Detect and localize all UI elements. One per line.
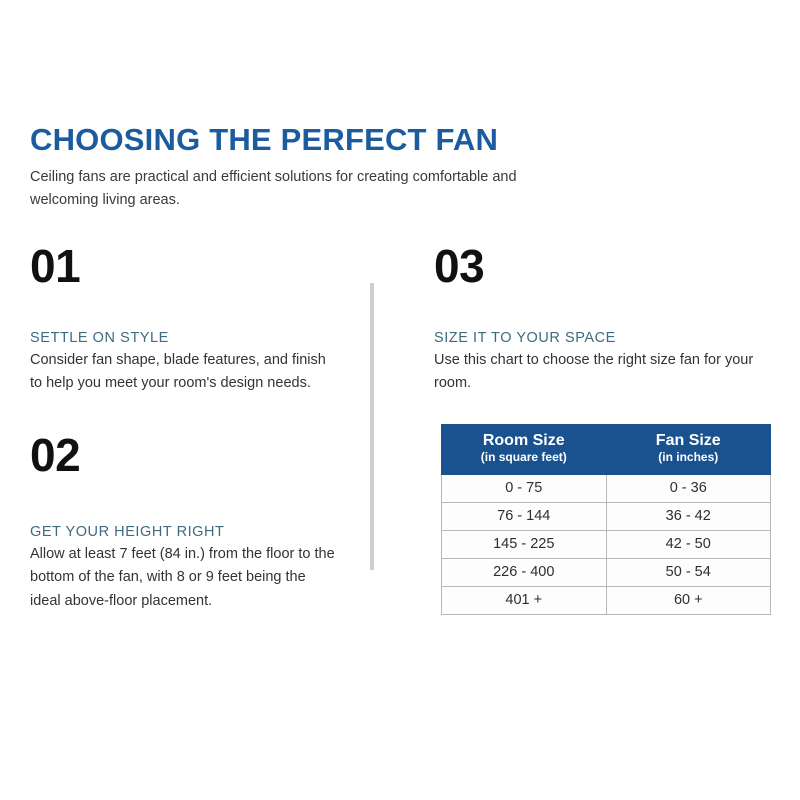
cell-room-size: 401 + [442, 586, 607, 614]
table-header-room-size: Room Size (in square feet) [442, 425, 607, 475]
header: CHOOSING THE PERFECT FAN Ceiling fans ar… [30, 124, 590, 213]
step-body-03: Use this chart to choose the right size … [434, 349, 774, 396]
table-row: 145 - 225 42 - 50 [442, 530, 771, 558]
table-row: 76 - 144 36 - 42 [442, 502, 771, 530]
step-block-02: 02 GET YOUR HEIGHT RIGHT Allow at least … [30, 432, 340, 613]
page-title: CHOOSING THE PERFECT FAN [30, 124, 590, 157]
header-room-size-main: Room Size [446, 432, 602, 450]
step-heading-03: SIZE IT TO YOUR SPACE [434, 330, 774, 346]
table-row: 226 - 400 50 - 54 [442, 558, 771, 586]
step-body-01: Consider fan shape, blade features, and … [30, 349, 340, 396]
column-divider [370, 283, 374, 570]
table-row: 0 - 75 0 - 36 [442, 474, 771, 502]
cell-room-size: 145 - 225 [442, 530, 607, 558]
cell-fan-size: 60 + [606, 586, 771, 614]
fan-size-chart: Room Size (in square feet) Fan Size (in … [441, 424, 771, 615]
step-number-02: 02 [30, 432, 340, 478]
step-heading-01: SETTLE ON STYLE [30, 330, 340, 346]
left-column: 01 SETTLE ON STYLE Consider fan shape, b… [30, 243, 340, 613]
cell-room-size: 0 - 75 [442, 474, 607, 502]
table-header-row: Room Size (in square feet) Fan Size (in … [442, 425, 771, 475]
step-block-03: 03 SIZE IT TO YOUR SPACE Use this chart … [434, 243, 774, 396]
cell-room-size: 226 - 400 [442, 558, 607, 586]
cell-fan-size: 0 - 36 [606, 474, 771, 502]
header-fan-size-main: Fan Size [611, 432, 767, 450]
step-heading-02: GET YOUR HEIGHT RIGHT [30, 524, 340, 540]
size-table: Room Size (in square feet) Fan Size (in … [441, 424, 771, 615]
table-row: 401 + 60 + [442, 586, 771, 614]
infographic-page: CHOOSING THE PERFECT FAN Ceiling fans ar… [0, 0, 800, 800]
table-body: 0 - 75 0 - 36 76 - 144 36 - 42 145 - 225… [442, 474, 771, 614]
step-number-03: 03 [434, 243, 774, 289]
right-column: 03 SIZE IT TO YOUR SPACE Use this chart … [434, 243, 774, 396]
table-header-fan-size: Fan Size (in inches) [606, 425, 771, 475]
step-block-01: 01 SETTLE ON STYLE Consider fan shape, b… [30, 243, 340, 396]
step-number-01: 01 [30, 243, 340, 289]
cell-fan-size: 42 - 50 [606, 530, 771, 558]
header-room-size-sub: (in square feet) [446, 450, 602, 466]
cell-fan-size: 36 - 42 [606, 502, 771, 530]
header-fan-size-sub: (in inches) [611, 450, 767, 466]
cell-fan-size: 50 - 54 [606, 558, 771, 586]
step-body-02: Allow at least 7 feet (84 in.) from the … [30, 543, 340, 613]
page-subtitle: Ceiling fans are practical and efficient… [30, 166, 550, 213]
cell-room-size: 76 - 144 [442, 502, 607, 530]
table-header: Room Size (in square feet) Fan Size (in … [442, 425, 771, 475]
